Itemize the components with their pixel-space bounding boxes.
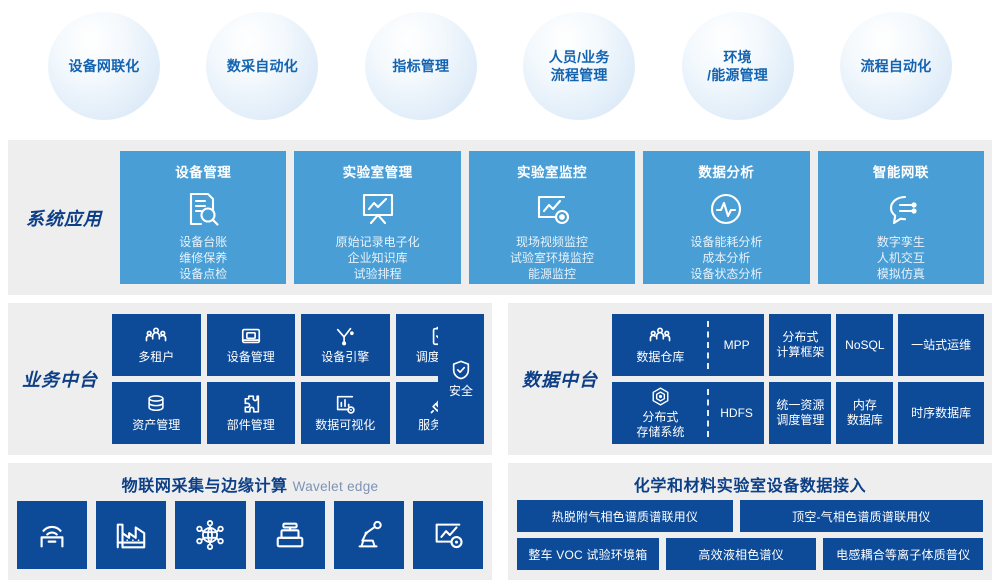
- iot-tile-monitor[interactable]: [413, 501, 483, 569]
- capability-ellipse[interactable]: 人员/业务流程管理: [523, 12, 635, 120]
- biz-tile-label: 设备引擎: [321, 350, 369, 365]
- app-card-intelligent-connectivity[interactable]: 智能网联 数字孪生人机交互模拟仿真: [818, 151, 984, 284]
- data-platform-section: 数据中台 数据仓库 MPP 分布式计算框架: [508, 303, 992, 455]
- iot-edge-section: 物联网采集与边缘计算Wavelet edge: [8, 463, 492, 580]
- biz-tile-device-engine[interactable]: 设备引擎: [301, 314, 390, 376]
- data-tile-data-warehouse[interactable]: 数据仓库: [612, 314, 709, 376]
- data-tile-nosql[interactable]: NoSQL: [836, 314, 893, 376]
- biz-tile-label: 安全: [449, 384, 473, 399]
- sensor-device-icon: [273, 518, 307, 552]
- capability-label: 流程自动化: [860, 57, 931, 75]
- lab-equipment-row: 整车 VOC 试验环境箱 高效液相色谱仪 电感耦合等离子体质普仪: [517, 538, 983, 570]
- app-card-data-analysis[interactable]: 数据分析 设备能耗分析成本分析设备状态分析: [643, 151, 809, 284]
- data-tile-in-memory-database[interactable]: 内存数据库: [836, 382, 893, 444]
- lab-equipment-section: 化学和材料实验室设备数据接入 热脱附气相色谱质谱联用仪 顶空-气相色谱质谱联用仪…: [508, 463, 992, 580]
- iot-edge-subtitle: Wavelet edge: [293, 479, 379, 494]
- iot-edge-heading: 物联网采集与边缘计算Wavelet edge: [8, 472, 492, 496]
- iot-tile-sensor[interactable]: [255, 501, 325, 569]
- presentation-chart-icon: [358, 188, 398, 230]
- monitor-chart-icon: [431, 518, 465, 552]
- gateway-wifi-icon: [35, 518, 69, 552]
- data-tile-label: 数据仓库: [636, 350, 684, 365]
- capability-ellipse-row: 设备网联化 数采自动化 指标管理 人员/业务流程管理 环境/能源管理 流程自动化: [0, 0, 1000, 132]
- hexagon-layers-icon: [650, 386, 671, 407]
- capability-label: 环境/能源管理: [707, 48, 768, 85]
- capability-ellipse[interactable]: 数采自动化: [206, 12, 318, 120]
- app-card-title: 设备管理: [175, 161, 231, 181]
- biz-tile-data-visualization[interactable]: 数据可视化: [301, 382, 390, 444]
- monitor-chart-icon: [532, 188, 572, 230]
- data-tile-one-stop-ops[interactable]: 一站式运维: [898, 314, 984, 376]
- capability-label: 人员/业务流程管理: [549, 48, 610, 85]
- section-label-business-platform: 业务中台: [8, 303, 112, 455]
- system-application-cards: 设备管理 设备台账维修保养设备点检 实验室管理: [120, 151, 984, 284]
- biz-tile-label: 资产管理: [132, 418, 180, 433]
- app-card-equipment-management[interactable]: 设备管理 设备台账维修保养设备点检: [120, 151, 286, 284]
- data-tile-distributed-storage[interactable]: 分布式存储系统: [612, 382, 709, 444]
- business-platform-grid: 多租户 设备管理: [112, 314, 484, 444]
- app-card-title: 数据分析: [698, 161, 754, 181]
- capability-label: 指标管理: [392, 57, 449, 75]
- lab-chip-icp-ms[interactable]: 电感耦合等离子体质普仪: [823, 538, 983, 570]
- factory-icon: [114, 518, 148, 552]
- data-tile-label: 内存数据库: [847, 398, 883, 428]
- capability-ellipse[interactable]: 流程自动化: [840, 12, 952, 120]
- robot-arm-icon: [352, 518, 386, 552]
- section-label-data-platform: 数据中台: [508, 303, 612, 455]
- app-card-title: 实验室监控: [517, 161, 587, 181]
- business-platform-section: 业务中台 多租户: [8, 303, 492, 455]
- lab-equipment-heading: 化学和材料实验室设备数据接入: [508, 472, 992, 496]
- app-card-title: 智能网联: [873, 161, 929, 181]
- lab-chip-headspace-gcms[interactable]: 顶空-气相色谱质谱联用仪: [740, 500, 983, 532]
- data-platform-grid: 数据仓库 MPP 分布式计算框架 NoSQL 一站式运维: [612, 314, 984, 444]
- data-tile-hdfs[interactable]: HDFS: [709, 382, 765, 444]
- biz-tile-label: 数据可视化: [315, 418, 375, 433]
- connected-chat-icon: [881, 188, 921, 230]
- shield-check-icon: [450, 359, 472, 381]
- database-stack-icon: [145, 393, 167, 415]
- biz-tile-asset-management[interactable]: 资产管理: [112, 382, 201, 444]
- biz-tile-device-management[interactable]: 设备管理: [207, 314, 296, 376]
- lab-chip-hplc[interactable]: 高效液相色谱仪: [666, 538, 817, 570]
- device-box-icon: [240, 325, 262, 347]
- people-group-icon: [145, 325, 167, 347]
- node-graph-icon: [334, 325, 356, 347]
- data-tile-label: 统一资源调度管理: [776, 398, 824, 428]
- data-tile-label: HDFS: [720, 406, 753, 421]
- iot-tile-robot-arm[interactable]: [334, 501, 404, 569]
- lab-equipment-rows: 热脱附气相色谱质谱联用仪 顶空-气相色谱质谱联用仪 整车 VOC 试验环境箱 高…: [517, 500, 983, 570]
- section-label-system-application: 系统应用: [8, 140, 120, 295]
- data-tile-label: NoSQL: [845, 338, 884, 353]
- biz-tile-security[interactable]: 安全: [438, 314, 484, 444]
- pulse-circle-icon: [706, 188, 746, 230]
- iot-tile-factory[interactable]: [96, 501, 166, 569]
- people-group-icon: [649, 325, 671, 347]
- biz-tile-component-management[interactable]: 部件管理: [207, 382, 296, 444]
- biz-tile-label: 部件管理: [227, 418, 275, 433]
- iot-icon-row: [17, 501, 483, 569]
- data-tile-distributed-compute-framework[interactable]: 分布式计算框架: [769, 314, 831, 376]
- puzzle-piece-icon: [240, 393, 262, 415]
- data-tile-label: MPP: [724, 338, 750, 353]
- capability-label: 设备网联化: [69, 57, 140, 75]
- biz-tile-label: 设备管理: [227, 350, 275, 365]
- document-search-icon: [183, 188, 223, 230]
- biz-tile-label: 多租户: [138, 350, 174, 365]
- iot-edge-title: 物联网采集与边缘计算: [122, 478, 288, 495]
- app-card-title: 实验室管理: [343, 161, 413, 181]
- app-card-lines: 原始记录电子化企业知识库试验排程: [336, 235, 420, 282]
- capability-ellipse[interactable]: 环境/能源管理: [682, 12, 794, 120]
- lab-chip-vehicle-voc-chamber[interactable]: 整车 VOC 试验环境箱: [517, 538, 659, 570]
- data-tile-time-series-database[interactable]: 时序数据库: [898, 382, 984, 444]
- dashed-divider: [707, 389, 709, 437]
- lab-chip-thermal-desorption-gcms[interactable]: 热脱附气相色谱质谱联用仪: [517, 500, 733, 532]
- app-card-lines: 设备能耗分析成本分析设备状态分析: [690, 235, 762, 282]
- biz-tile-multi-tenant[interactable]: 多租户: [112, 314, 201, 376]
- capability-ellipse[interactable]: 设备网联化: [48, 12, 160, 120]
- data-tile-unified-resource-scheduling[interactable]: 统一资源调度管理: [769, 382, 831, 444]
- data-tile-label: 分布式计算框架: [776, 330, 824, 360]
- system-application-section: 系统应用 设备管理 设备台账维修保养设备点检 实验室管理: [8, 140, 992, 295]
- dashed-divider: [707, 321, 709, 369]
- network-globe-icon: [193, 518, 227, 552]
- capability-ellipse[interactable]: 指标管理: [365, 12, 477, 120]
- data-tile-label: 一站式运维: [911, 338, 971, 353]
- data-tile-label: 分布式存储系统: [636, 410, 684, 440]
- app-card-lab-management[interactable]: 实验室管理 原始记录电子化企业知识库试验排程: [294, 151, 460, 284]
- lab-equipment-row: 热脱附气相色谱质谱联用仪 顶空-气相色谱质谱联用仪: [517, 500, 983, 532]
- iot-tile-gateway[interactable]: [17, 501, 87, 569]
- bar-chart-icon: [334, 393, 356, 415]
- app-card-lines: 数字孪生人机交互模拟仿真: [877, 235, 925, 282]
- app-card-lines: 现场视频监控试验室环境监控能源监控: [510, 235, 594, 282]
- app-card-lines: 设备台账维修保养设备点检: [179, 235, 227, 282]
- architecture-diagram: 设备网联化 数采自动化 指标管理 人员/业务流程管理 环境/能源管理 流程自动化…: [0, 0, 1000, 588]
- app-card-lab-monitoring[interactable]: 实验室监控 现场视频监控试验室环境监控能源监控: [469, 151, 635, 284]
- data-tile-mpp[interactable]: MPP: [709, 314, 765, 376]
- capability-label: 数采自动化: [227, 57, 298, 75]
- iot-tile-network[interactable]: [175, 501, 245, 569]
- data-tile-label: 时序数据库: [911, 406, 971, 421]
